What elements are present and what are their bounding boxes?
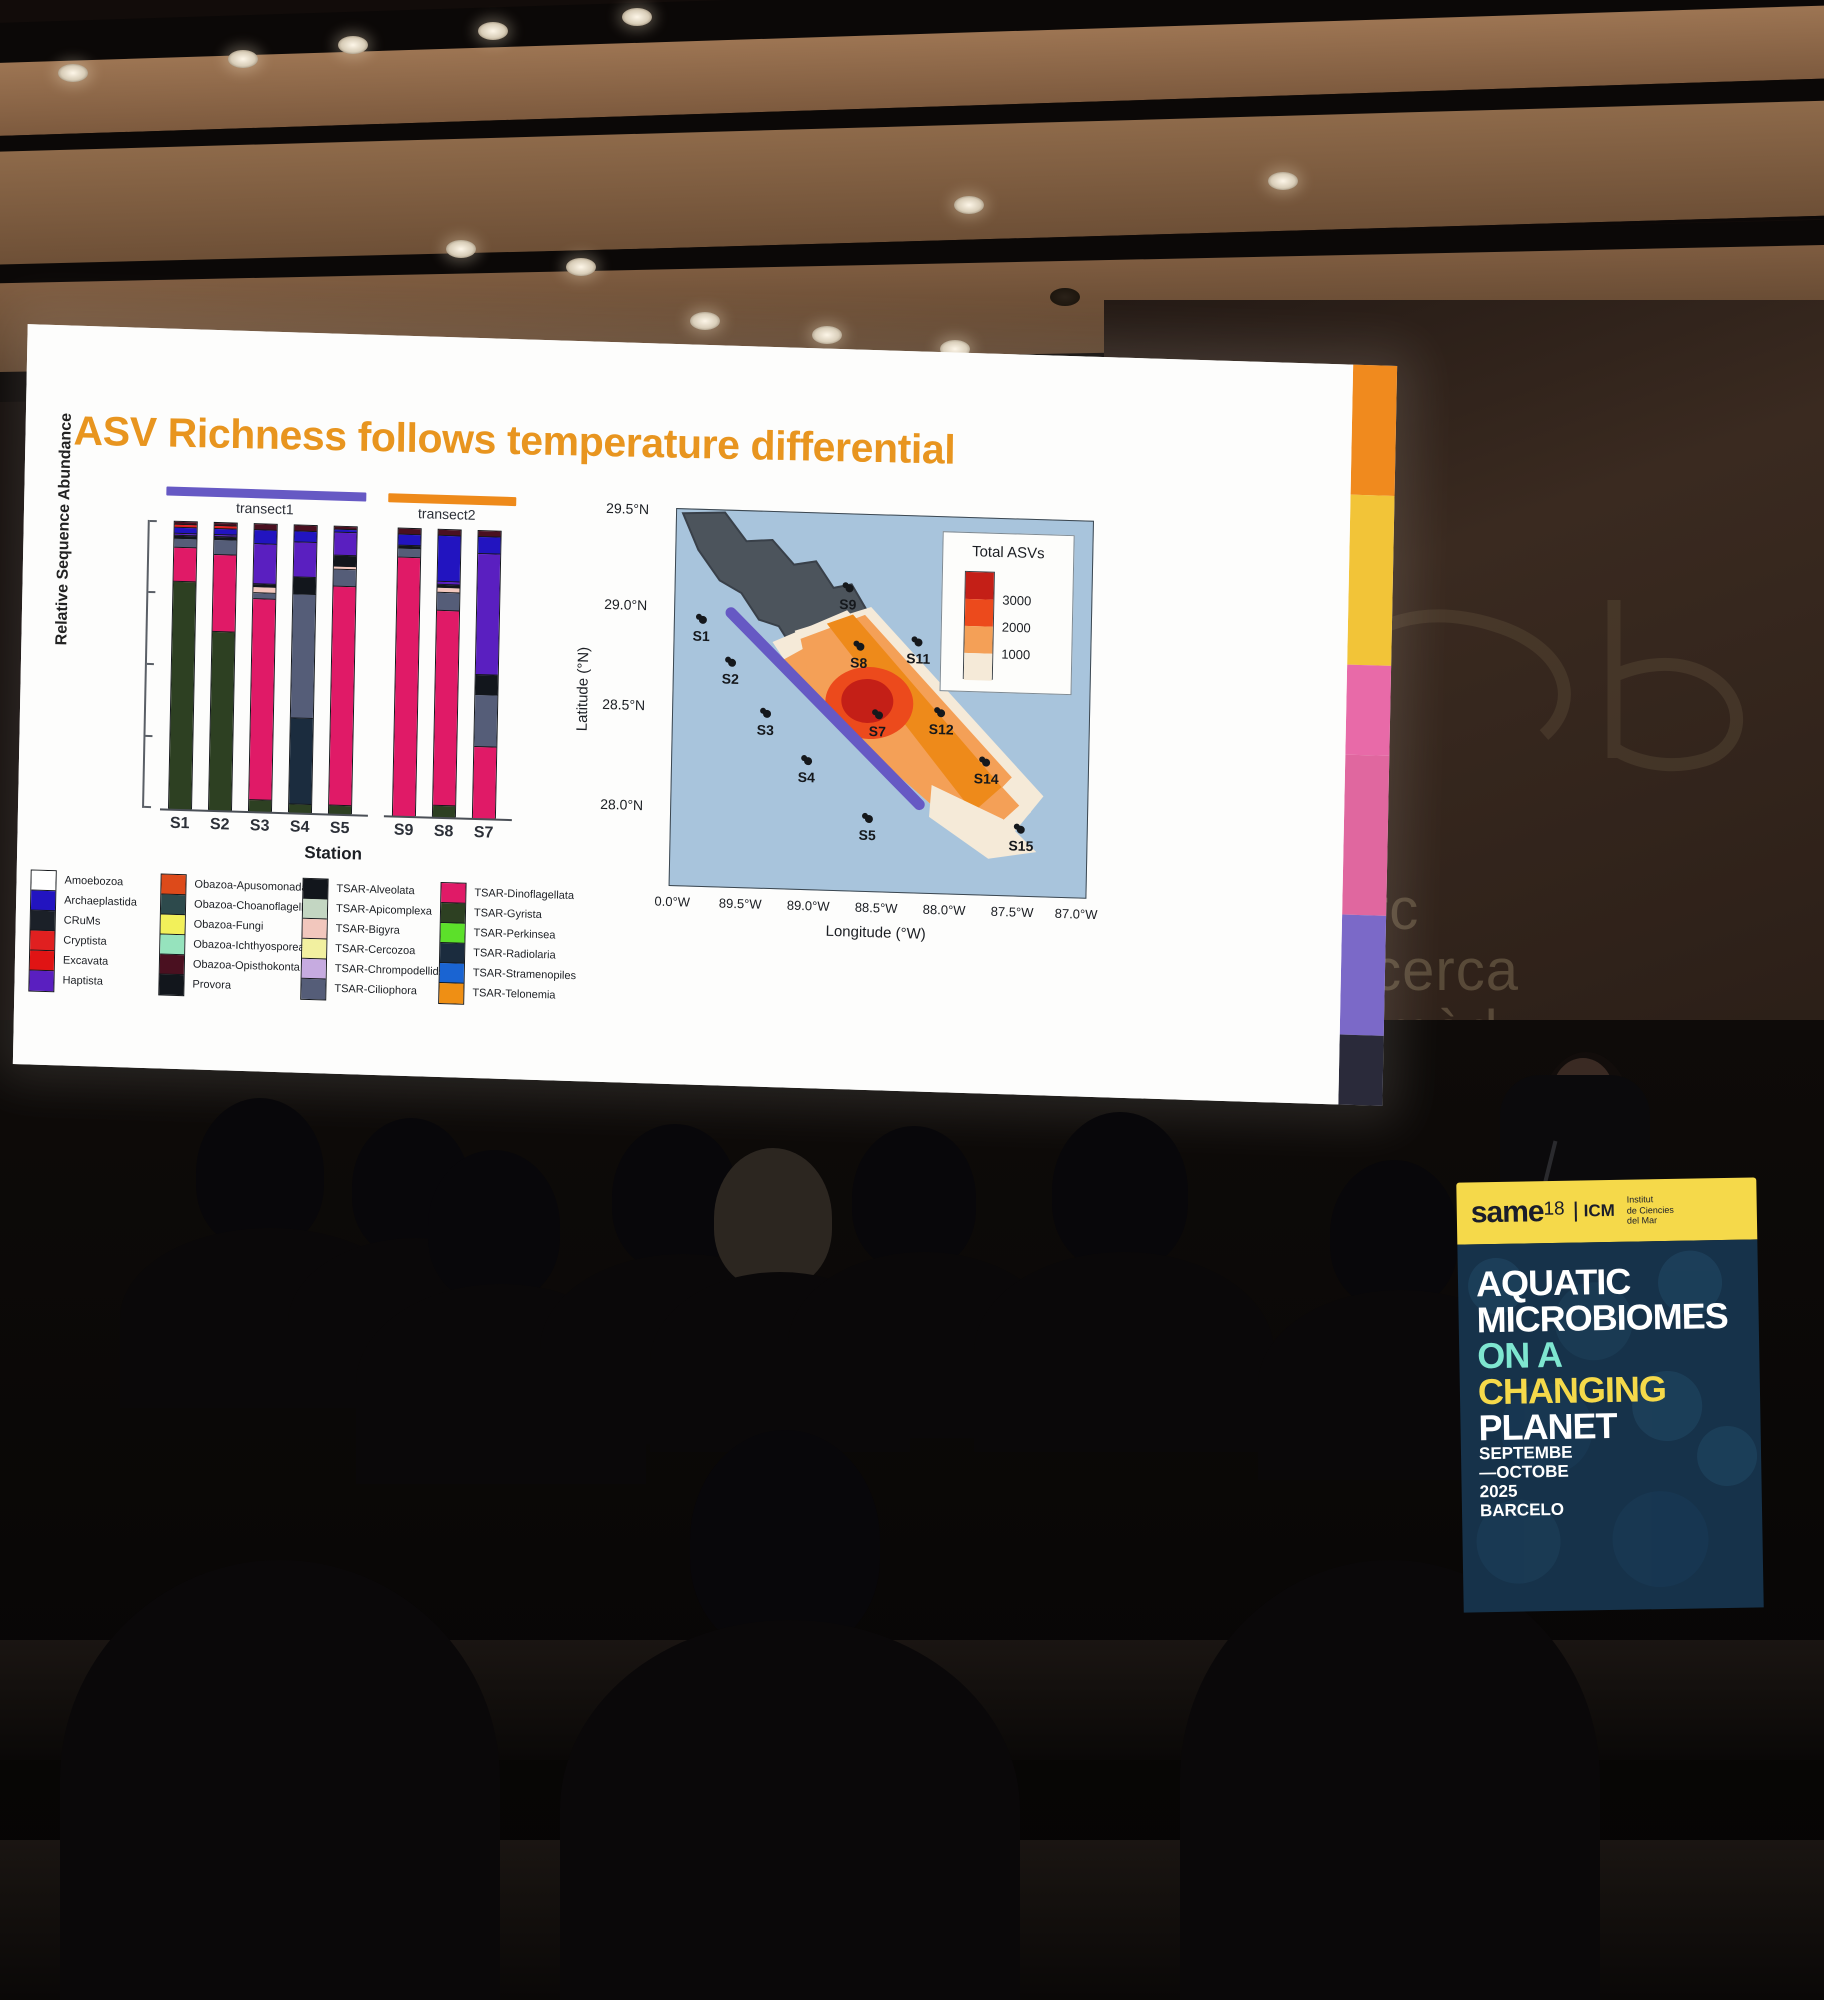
taxa-legend-names: AmoebozoaArchaeplastidaCRuMsCryptistaExc… bbox=[62, 871, 137, 993]
transect2-label: transect2 bbox=[418, 505, 476, 523]
audience-shoulders-foreground bbox=[1180, 1560, 1600, 2000]
total-asvs-legend: Total ASVs 3000 2000 1000 bbox=[940, 531, 1075, 695]
ceiling-downlight bbox=[338, 36, 368, 54]
taxa-legend-swatch bbox=[440, 943, 464, 964]
taxa-legend-swatch bbox=[30, 950, 54, 971]
bar-segment bbox=[254, 530, 276, 545]
x-tick-label: S8 bbox=[434, 823, 454, 842]
audience-shoulders bbox=[974, 1252, 1274, 1452]
bar-segment bbox=[329, 587, 355, 807]
ceiling-downlight bbox=[1050, 288, 1080, 306]
taxa-legend-swatches bbox=[438, 882, 466, 1005]
stacked-bar-S1 bbox=[168, 521, 198, 810]
ceiling-downlight bbox=[446, 240, 476, 258]
icm-name-line: de Ciencies bbox=[1627, 1205, 1674, 1216]
taxa-legend-swatch bbox=[31, 871, 55, 892]
stacked-bar-S8 bbox=[432, 529, 462, 818]
map-x-axis-label: Longitude (°W) bbox=[825, 923, 926, 943]
ceiling-downlight bbox=[622, 8, 652, 26]
bar-segment bbox=[294, 543, 317, 578]
ceiling-downlight bbox=[1268, 172, 1298, 190]
station-label: S3 bbox=[757, 722, 774, 739]
station-marker-S8: S8 bbox=[850, 654, 867, 671]
bar-chart-y-axis bbox=[142, 520, 150, 808]
station-label: S2 bbox=[722, 670, 739, 687]
map-x-tick: 0.0°W bbox=[654, 894, 690, 910]
taxa-legend-swatch bbox=[303, 899, 327, 920]
bar-segment bbox=[169, 582, 196, 810]
icm-institute-name: Institut de Ciencies del Mar bbox=[1625, 1194, 1675, 1226]
map-y-tick: 28.0°N bbox=[600, 796, 643, 813]
taxa-legend-swatch bbox=[160, 954, 184, 975]
bar-segment bbox=[294, 531, 316, 543]
bar-segment bbox=[476, 554, 500, 676]
bar-segment bbox=[213, 555, 237, 633]
map-x-tick: 88.0°W bbox=[923, 902, 966, 918]
transect1-label: transect1 bbox=[236, 500, 294, 518]
map-y-axis-label: Latitude (°N) bbox=[574, 647, 593, 732]
bar-chart-y-axis-label: Relative Sequence Abundance bbox=[53, 413, 76, 646]
taxa-legend-swatch bbox=[440, 923, 464, 944]
station-marker-S12: S12 bbox=[929, 721, 954, 738]
map-x-tick: 89.0°W bbox=[787, 898, 830, 914]
taxa-legend-swatches bbox=[158, 873, 186, 996]
station-label: S14 bbox=[974, 770, 999, 787]
taxa-legend-label: TSAR-Ciliophora bbox=[334, 979, 444, 1002]
stacked-bar-S7 bbox=[472, 530, 502, 819]
taxa-legend-names: TSAR-DinoflagellataTSAR-GyristaTSAR-Perk… bbox=[472, 883, 578, 1006]
x-tick-label: S2 bbox=[210, 816, 230, 835]
audience-shoulders-foreground bbox=[560, 1620, 1020, 2000]
audience-head bbox=[1330, 1160, 1458, 1308]
taxa-legend-swatch bbox=[30, 930, 54, 951]
bar-segment bbox=[393, 557, 420, 817]
x-tick-label: S9 bbox=[394, 822, 414, 841]
ceiling-downlight bbox=[58, 64, 88, 82]
taxa-legend-swatch bbox=[29, 970, 53, 991]
station-label: S8 bbox=[850, 654, 867, 671]
station-label: S9 bbox=[839, 596, 856, 613]
slide-title: ASV Richness follows temperature differe… bbox=[73, 407, 955, 473]
taxa-legend-label: Provora bbox=[192, 974, 317, 998]
bar-segment bbox=[291, 594, 315, 718]
bar-segment bbox=[249, 599, 275, 801]
x-tick-label: S7 bbox=[474, 824, 494, 843]
taxa-legend-swatch bbox=[439, 983, 463, 1004]
taxa-legend-swatch bbox=[440, 963, 464, 984]
station-marker-S3: S3 bbox=[757, 722, 774, 739]
bar-segment bbox=[438, 536, 461, 583]
audience-shoulders-foreground bbox=[60, 1560, 500, 2000]
station-label: S5 bbox=[858, 827, 875, 844]
icm-institute-logo: ICM bbox=[1574, 1201, 1615, 1221]
transect2-bar bbox=[388, 493, 516, 506]
ceiling-downlight bbox=[812, 326, 842, 344]
stacked-bar-chart: transect1 transect2 Relative Sequence Ab… bbox=[63, 476, 541, 890]
bar-segment bbox=[214, 540, 236, 555]
bar-segment bbox=[334, 532, 356, 556]
map-y-tick: 28.5°N bbox=[602, 696, 645, 713]
audience-head bbox=[196, 1098, 324, 1248]
map-x-tick: 87.0°W bbox=[1055, 906, 1098, 922]
station-marker-S11: S11 bbox=[906, 650, 930, 667]
map-x-tick: 89.5°W bbox=[719, 896, 762, 912]
station-marker-S4: S4 bbox=[798, 769, 815, 786]
x-tick-label: S5 bbox=[330, 820, 350, 839]
bar-segment bbox=[475, 675, 497, 696]
conference-podium: same18 ICM Institut de Ciencies del Mar bbox=[1456, 1177, 1763, 1612]
taxa-legend-swatch bbox=[302, 919, 326, 940]
podium-panel: AQUATIC MICROBIOMES ON A CHANGING PLANET… bbox=[1457, 1239, 1763, 1612]
bar-segment bbox=[473, 747, 496, 820]
transect1-bar bbox=[166, 486, 366, 501]
bar-segment bbox=[478, 537, 500, 555]
bar-chart-x-axis-label: Station bbox=[304, 843, 362, 865]
taxa-legend-swatch bbox=[161, 874, 185, 895]
map-x-tick: 87.5°W bbox=[991, 904, 1034, 920]
taxa-legend-label: Amoebozoa bbox=[64, 871, 137, 893]
station-marker-S7: S7 bbox=[869, 723, 886, 740]
stacked-bar-S4 bbox=[288, 524, 318, 813]
station-marker-S1: S1 bbox=[692, 628, 709, 645]
taxa-legend-swatch bbox=[302, 939, 326, 960]
station-label: S7 bbox=[869, 723, 886, 740]
map-y-tick: 29.0°N bbox=[604, 596, 647, 613]
headline-line: MICROBIOMES bbox=[1476, 1298, 1745, 1339]
bar-segment bbox=[293, 577, 315, 595]
bar-segment bbox=[289, 718, 313, 805]
audience-head bbox=[852, 1126, 976, 1270]
colorbar bbox=[963, 571, 995, 680]
taxa-legend-swatch bbox=[441, 883, 465, 904]
taxa-legend-names: TSAR-AlveolataTSAR-ApicomplexaTSAR-Bigyr… bbox=[334, 879, 446, 1002]
taxa-legend-swatch bbox=[31, 910, 55, 931]
taxa-legend-swatch bbox=[160, 914, 184, 935]
slide-content: ASV Richness follows temperature differe… bbox=[13, 324, 1353, 1104]
taxa-legend-swatches bbox=[28, 869, 56, 992]
x-tick-label: S3 bbox=[250, 817, 270, 836]
colorbar-title: Total ASVs bbox=[943, 542, 1073, 563]
projection-screen: ASV Richness follows temperature differe… bbox=[13, 324, 1397, 1106]
stacked-bar-S5 bbox=[328, 526, 358, 815]
stacked-bar-S9 bbox=[392, 528, 422, 817]
taxa-legend-label: Archaeplastida bbox=[64, 891, 137, 913]
podium-header-band: same18 ICM Institut de Ciencies del Mar bbox=[1456, 1177, 1757, 1244]
audience-head bbox=[714, 1148, 832, 1288]
bar-segment bbox=[433, 610, 459, 806]
transect-group-bars: transect1 transect2 bbox=[166, 486, 516, 523]
bar-segment bbox=[174, 548, 197, 583]
same18-logo: same18 bbox=[1471, 1195, 1565, 1231]
ceiling-downlight bbox=[690, 312, 720, 330]
taxa-legend-label: CRuMs bbox=[64, 911, 137, 933]
taxa-legend-swatch bbox=[441, 903, 465, 924]
bar-segment bbox=[333, 570, 355, 588]
station-label: S15 bbox=[1008, 837, 1033, 854]
station-marker-S9: S9 bbox=[839, 596, 856, 613]
audience-head bbox=[1052, 1112, 1188, 1270]
x-tick-label: S1 bbox=[170, 815, 190, 834]
map-y-tick: 29.5°N bbox=[606, 500, 649, 517]
taxa-legend-swatch bbox=[302, 959, 326, 980]
same-logo-year: 18 bbox=[1543, 1198, 1565, 1219]
taxa-legend-label: Excavata bbox=[63, 950, 136, 972]
stacked-bar-S2 bbox=[208, 522, 238, 811]
station-label: S12 bbox=[929, 721, 954, 738]
taxa-legend-swatch bbox=[159, 974, 183, 995]
colorbar-tick: 3000 bbox=[1002, 593, 1031, 609]
asv-richness-map: Latitude (°N) 29.5°N 29.0°N 28.5°N 28.0°… bbox=[575, 491, 1104, 977]
podium-headline: AQUATIC MICROBIOMES ON A CHANGING PLANET bbox=[1476, 1262, 1747, 1447]
same-logo-text: same bbox=[1471, 1195, 1544, 1229]
taxa-legend-label: TSAR-Telonemia bbox=[472, 983, 576, 1006]
ceiling-downlight bbox=[228, 50, 258, 68]
auditorium-room: Parc Recerca Biomèd Barcelo ASV Richness… bbox=[0, 0, 1824, 2000]
station-marker-S5: S5 bbox=[858, 827, 875, 844]
ceiling-downlight bbox=[478, 22, 508, 40]
bar-segment bbox=[334, 555, 356, 567]
podium-event-date: SEPTEMBE —OCTOBE 2025 BARCELO bbox=[1479, 1440, 1730, 1520]
x-tick-label: S4 bbox=[290, 818, 310, 837]
taxa-legend-swatch bbox=[161, 894, 185, 915]
taxa-legend-swatch bbox=[301, 979, 325, 1000]
station-label: S1 bbox=[692, 628, 709, 645]
colorbar-tick: 1000 bbox=[1001, 647, 1030, 663]
taxa-legend-swatch bbox=[303, 879, 327, 900]
station-marker-S14: S14 bbox=[974, 770, 999, 787]
bar-segment bbox=[254, 544, 277, 585]
taxa-legend-label: Haptista bbox=[62, 970, 135, 992]
bar-segment bbox=[474, 695, 497, 747]
bar-segment bbox=[209, 632, 235, 811]
station-marker-S2: S2 bbox=[722, 670, 739, 687]
station-label: S11 bbox=[906, 650, 930, 667]
station-label: S4 bbox=[798, 769, 815, 786]
ceiling-downlight bbox=[954, 196, 984, 214]
stacked-bar-S3 bbox=[248, 523, 278, 812]
colorbar-tick: 2000 bbox=[1002, 620, 1031, 636]
map-plot-box: S1 S2 S3 S4 bbox=[669, 508, 1094, 899]
taxa-legend-swatch bbox=[160, 934, 184, 955]
audience-head bbox=[428, 1150, 560, 1302]
bar-segment bbox=[437, 593, 459, 611]
bar-plot-area bbox=[160, 520, 518, 819]
taxa-legend-swatches bbox=[300, 878, 328, 1001]
map-x-tick: 88.5°W bbox=[855, 900, 898, 916]
ceiling-downlight bbox=[566, 258, 596, 276]
taxa-legend-swatch bbox=[31, 890, 55, 911]
bar-segment bbox=[398, 534, 420, 546]
icm-abbrev: ICM bbox=[1583, 1201, 1615, 1221]
taxa-legend-label: Cryptista bbox=[63, 930, 136, 952]
icm-name-line: del Mar bbox=[1627, 1215, 1674, 1226]
station-marker-S15: S15 bbox=[1008, 837, 1033, 854]
audience-head-foreground bbox=[690, 1430, 880, 1652]
